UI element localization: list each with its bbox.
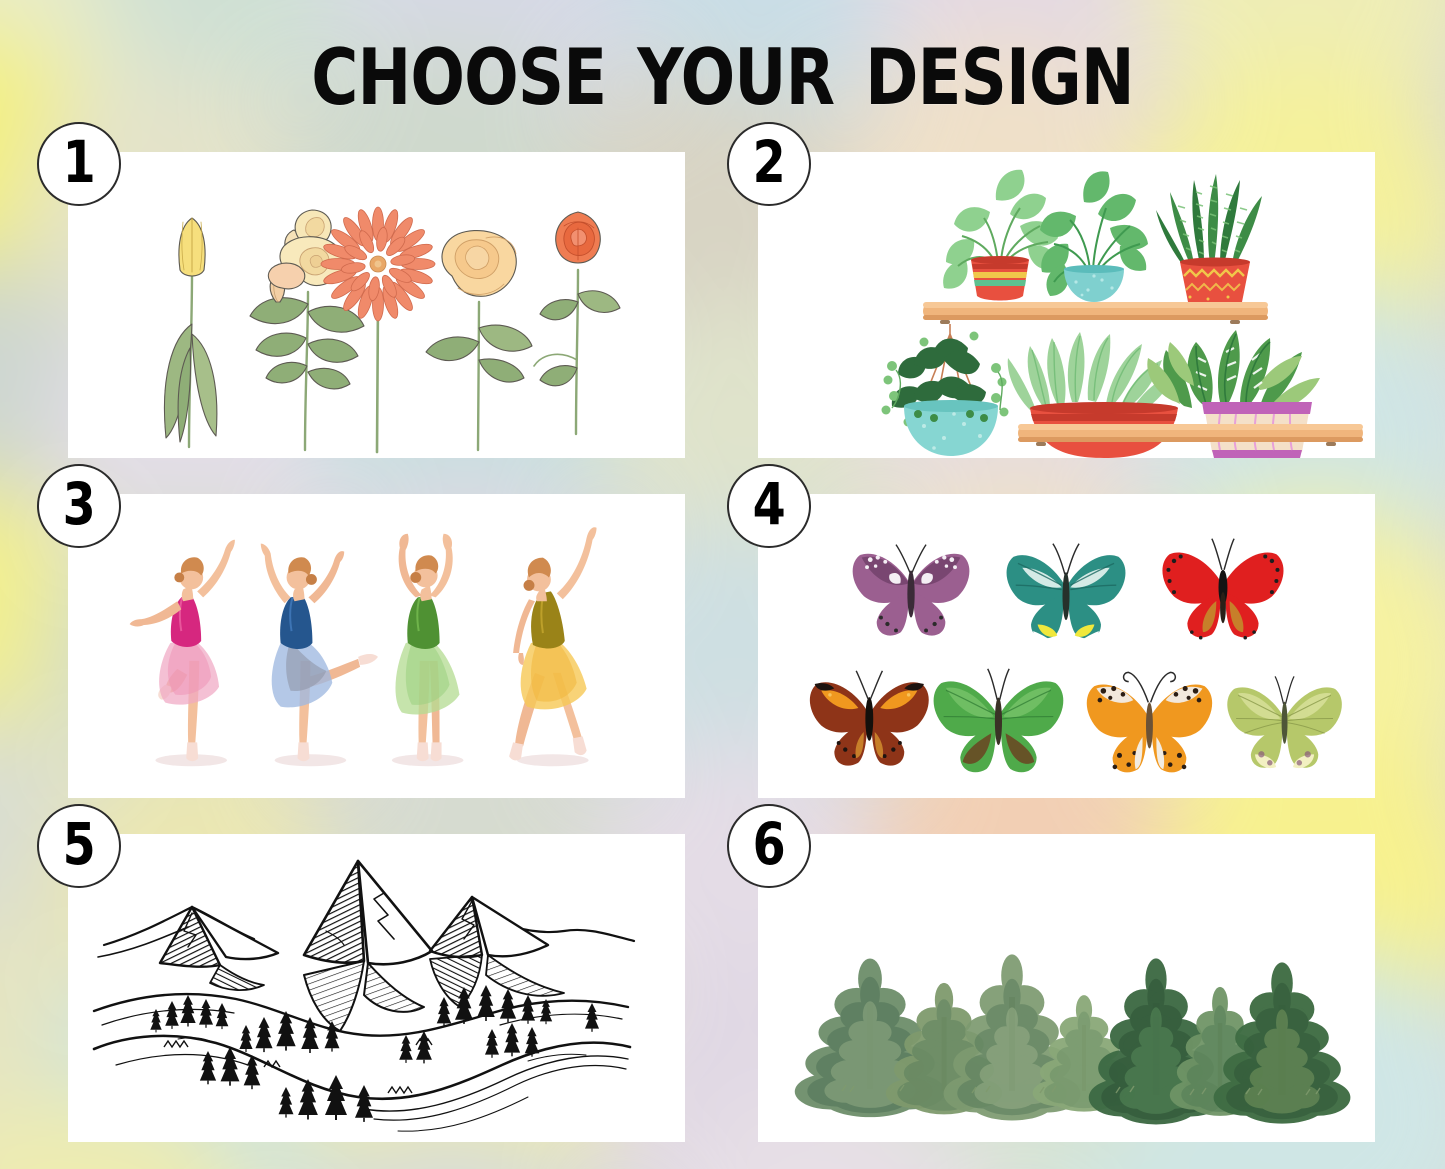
design-card-5[interactable]: 5 <box>68 834 685 1142</box>
poster-canvas: choose your design <box>0 0 1445 1169</box>
design-option-5[interactable]: 5 <box>37 804 121 888</box>
design-card-1[interactable]: 1 <box>68 152 685 458</box>
ballerina-dancers-illustration <box>68 494 685 798</box>
badge-number: 5 <box>62 815 95 877</box>
mountain-range-line-art <box>68 834 685 1142</box>
badge-number: 3 <box>62 475 95 537</box>
badge-number: 4 <box>752 475 785 537</box>
design-option-3[interactable]: 3 <box>37 464 121 548</box>
badge-number: 1 <box>62 133 95 195</box>
design-option-2[interactable]: 2 <box>727 122 811 206</box>
design-options-grid: 1 <box>68 152 1375 1142</box>
watercolor-pine-trees-illustration <box>758 834 1375 1142</box>
badge-number: 6 <box>752 815 785 877</box>
houseplants-on-shelves-illustration <box>758 152 1375 458</box>
design-card-6[interactable]: 6 <box>758 834 1375 1142</box>
butterflies-canvas <box>758 494 1375 798</box>
design-card-2[interactable]: 2 <box>758 152 1375 458</box>
design-option-1[interactable]: 1 <box>37 122 121 206</box>
watercolor-butterflies-illustration[interactable]: 4 <box>758 494 1375 798</box>
design-option-4[interactable]: 4 <box>727 464 811 548</box>
page-title: choose your design <box>87 11 1359 121</box>
design-card-3[interactable]: 3 <box>68 494 685 798</box>
badge-number: 2 <box>752 133 785 195</box>
flower-bouquet-illustration <box>68 152 685 458</box>
design-option-6[interactable]: 6 <box>727 804 811 888</box>
